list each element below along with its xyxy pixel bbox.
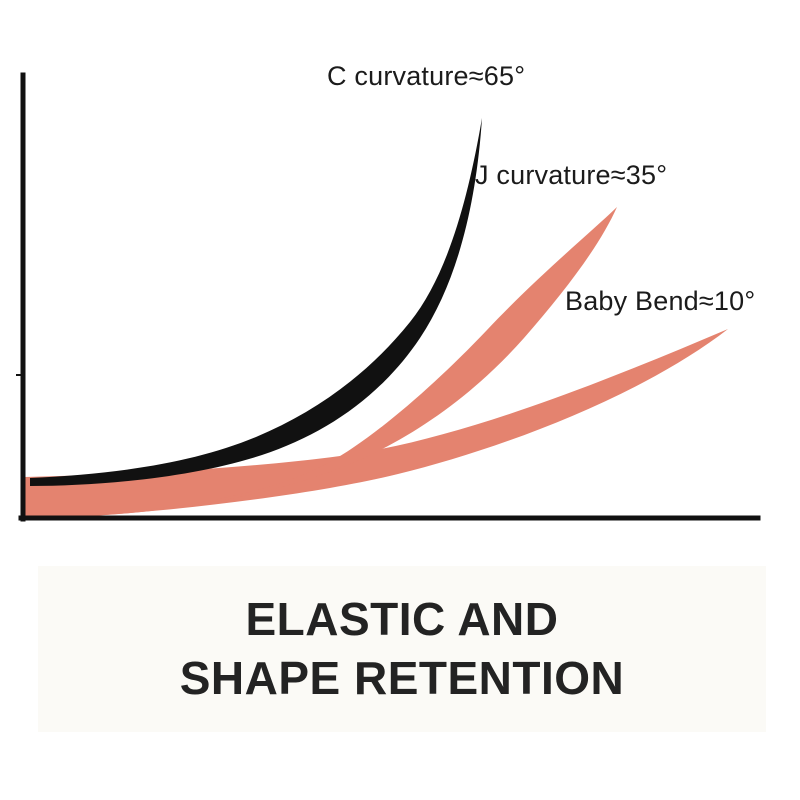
caption-panel: ELASTIC AND SHAPE RETENTION [38, 566, 766, 732]
baby-bend-band [25, 329, 728, 518]
j-curvature-label: J curvature≈35° [475, 162, 667, 189]
caption-line-1: ELASTIC AND [245, 590, 558, 649]
c-curvature-label: C curvature≈65° [327, 63, 525, 90]
diagram-stage: C curvature≈65° J curvature≈35° Baby Ben… [0, 0, 800, 800]
caption-line-2: SHAPE RETENTION [180, 649, 625, 708]
baby-bend-label: Baby Bend≈10° [565, 288, 755, 315]
